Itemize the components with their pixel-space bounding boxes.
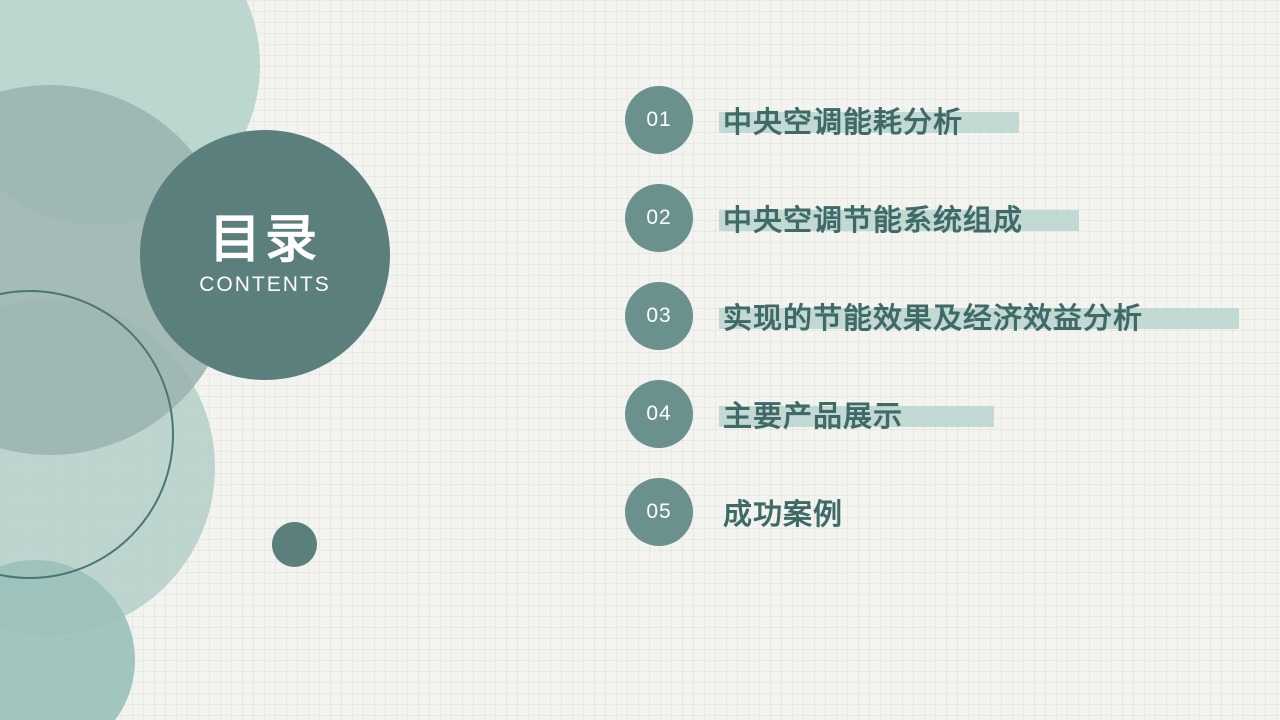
contents-label-01: 中央空调能耗分析: [723, 107, 963, 139]
contents-list: 01 中央空调能耗分析 02 中央空调节能系统组成 03 实现的节能效果及经济效…: [625, 78, 1265, 568]
contents-badge: 目录 CONTENTS: [140, 130, 390, 380]
contents-item-02[interactable]: 02 中央空调节能系统组成: [625, 176, 1265, 260]
contents-label-03: 实现的节能效果及经济效益分析: [723, 303, 1143, 335]
contents-label-wrap-03: 实现的节能效果及经济效益分析: [723, 295, 1143, 337]
contents-item-04[interactable]: 04 主要产品展示: [625, 372, 1265, 456]
contents-label-wrap-01: 中央空调能耗分析: [723, 99, 963, 141]
contents-label-02: 中央空调节能系统组成: [723, 205, 1023, 237]
contents-label-wrap-02: 中央空调节能系统组成: [723, 197, 1023, 239]
contents-label-wrap-04: 主要产品展示: [723, 393, 903, 435]
contents-number-01: 01: [625, 86, 693, 154]
contents-label-04: 主要产品展示: [723, 401, 903, 433]
contents-label-wrap-05: 成功案例: [723, 491, 843, 533]
decor-dot: [272, 522, 317, 567]
contents-title-en: CONTENTS: [199, 273, 331, 297]
contents-number-02: 02: [625, 184, 693, 252]
contents-number-05: 05: [625, 478, 693, 546]
contents-title-cn: 目录: [209, 213, 321, 268]
contents-item-01[interactable]: 01 中央空调能耗分析: [625, 78, 1265, 162]
contents-number-03: 03: [625, 282, 693, 350]
contents-item-05[interactable]: 05 成功案例: [625, 470, 1265, 554]
contents-item-03[interactable]: 03 实现的节能效果及经济效益分析: [625, 274, 1265, 358]
contents-label-05: 成功案例: [723, 499, 843, 531]
slide-canvas: 目录 CONTENTS 01 中央空调能耗分析 02 中央空调节能系统组成 03…: [0, 0, 1280, 720]
contents-number-04: 04: [625, 380, 693, 448]
